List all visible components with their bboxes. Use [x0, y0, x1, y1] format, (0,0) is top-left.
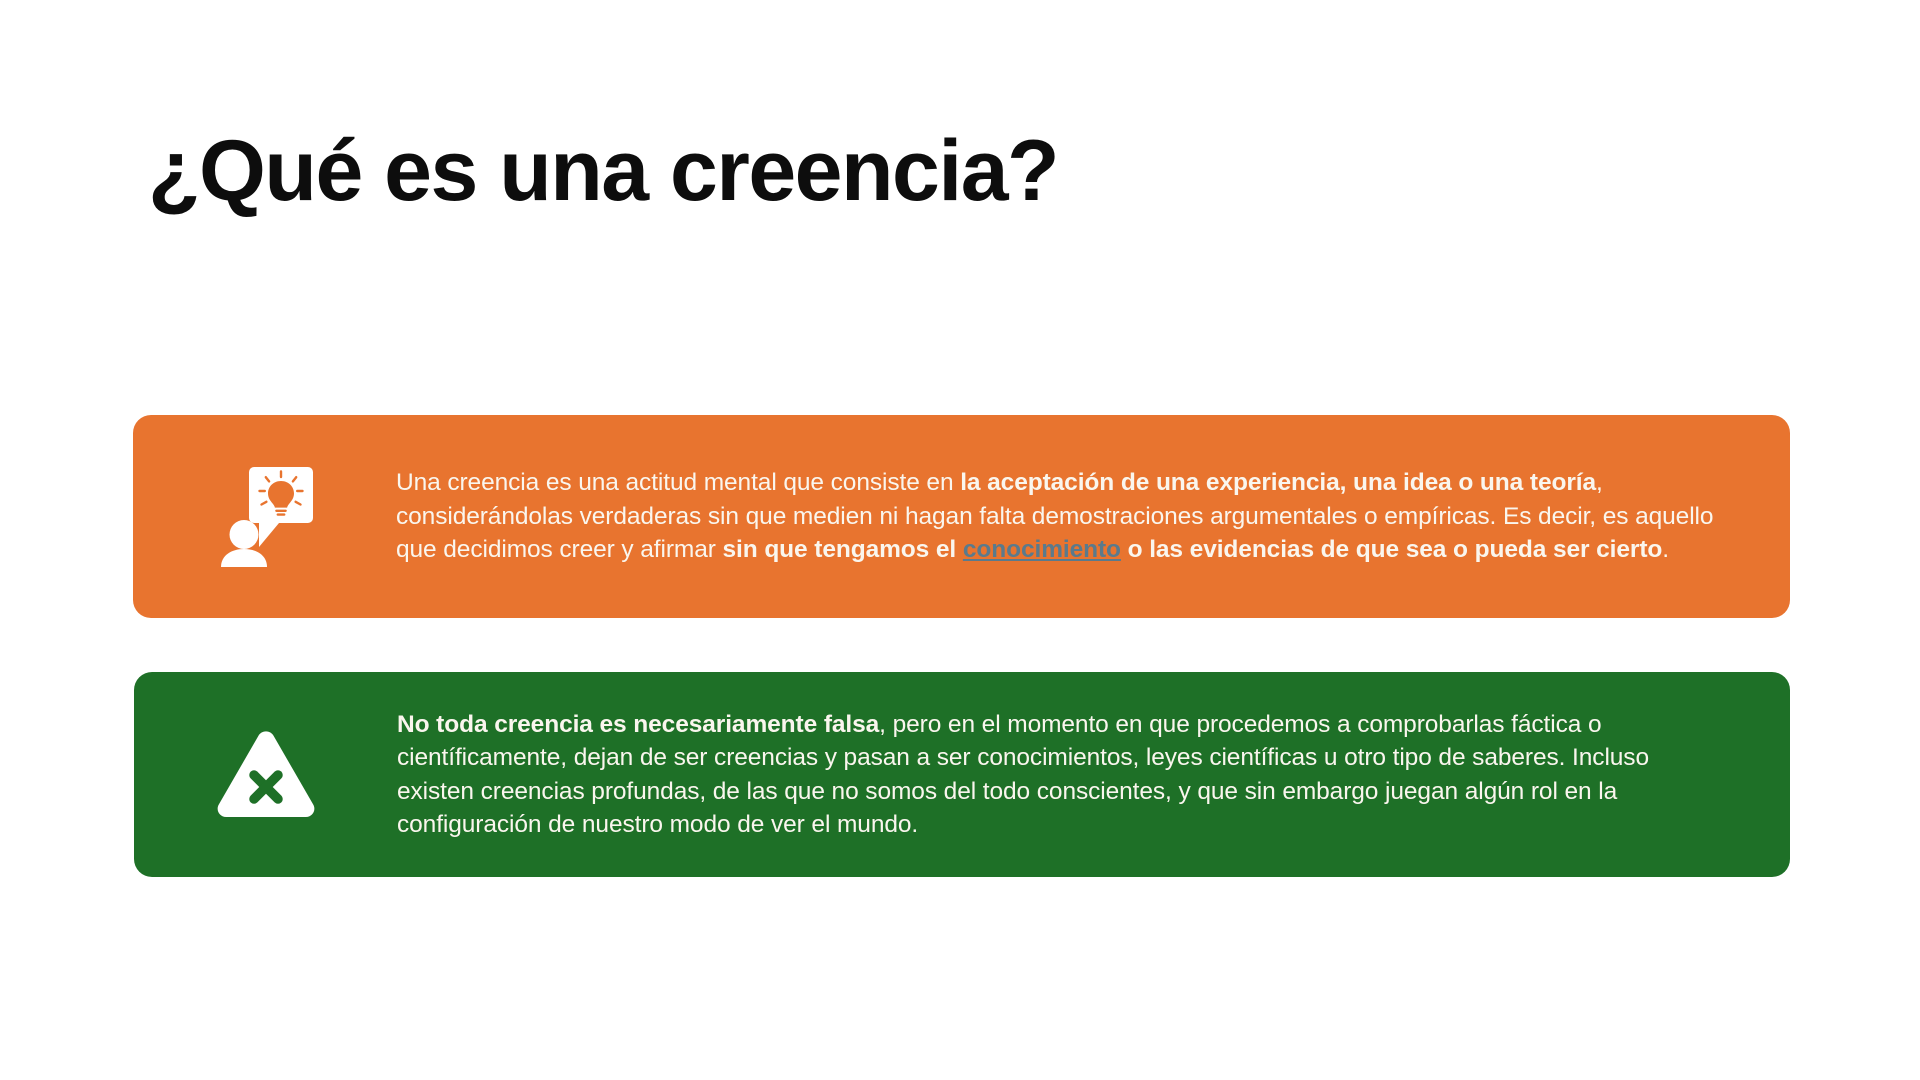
person-thinking-lightbulb-icon — [217, 467, 313, 567]
warning-triangle-x-icon — [214, 728, 318, 822]
card-segment: . — [1662, 536, 1669, 563]
info-card-belief-falsity: No toda creencia es necesariamente falsa… — [134, 672, 1790, 877]
card-segment-bold: o las evidencias de que sea o pueda ser … — [1121, 536, 1662, 563]
info-card-belief-definition: Una creencia es una actitud mental que c… — [133, 415, 1790, 618]
card-segment: Una creencia es una actitud mental que c… — [396, 469, 960, 496]
card-text-belief-definition: Una creencia es una actitud mental que c… — [396, 466, 1790, 567]
card-text-belief-falsity: No toda creencia es necesariamente falsa… — [397, 708, 1790, 842]
slide-canvas: ¿Qué es una creencia? — [0, 0, 1920, 1080]
card-icon-container-falsity — [134, 728, 397, 822]
inline-link-conocimiento[interactable]: conocimiento — [963, 536, 1121, 563]
card-segment-bold: la aceptación de una experiencia, una id… — [960, 469, 1596, 496]
card-segment-bold: No toda creencia es necesariamente falsa — [397, 711, 879, 738]
page-title: ¿Qué es una creencia? — [148, 128, 1058, 214]
card-segment-bold: sin que tengamos el — [723, 536, 963, 563]
card-icon-container-definition — [133, 467, 396, 567]
